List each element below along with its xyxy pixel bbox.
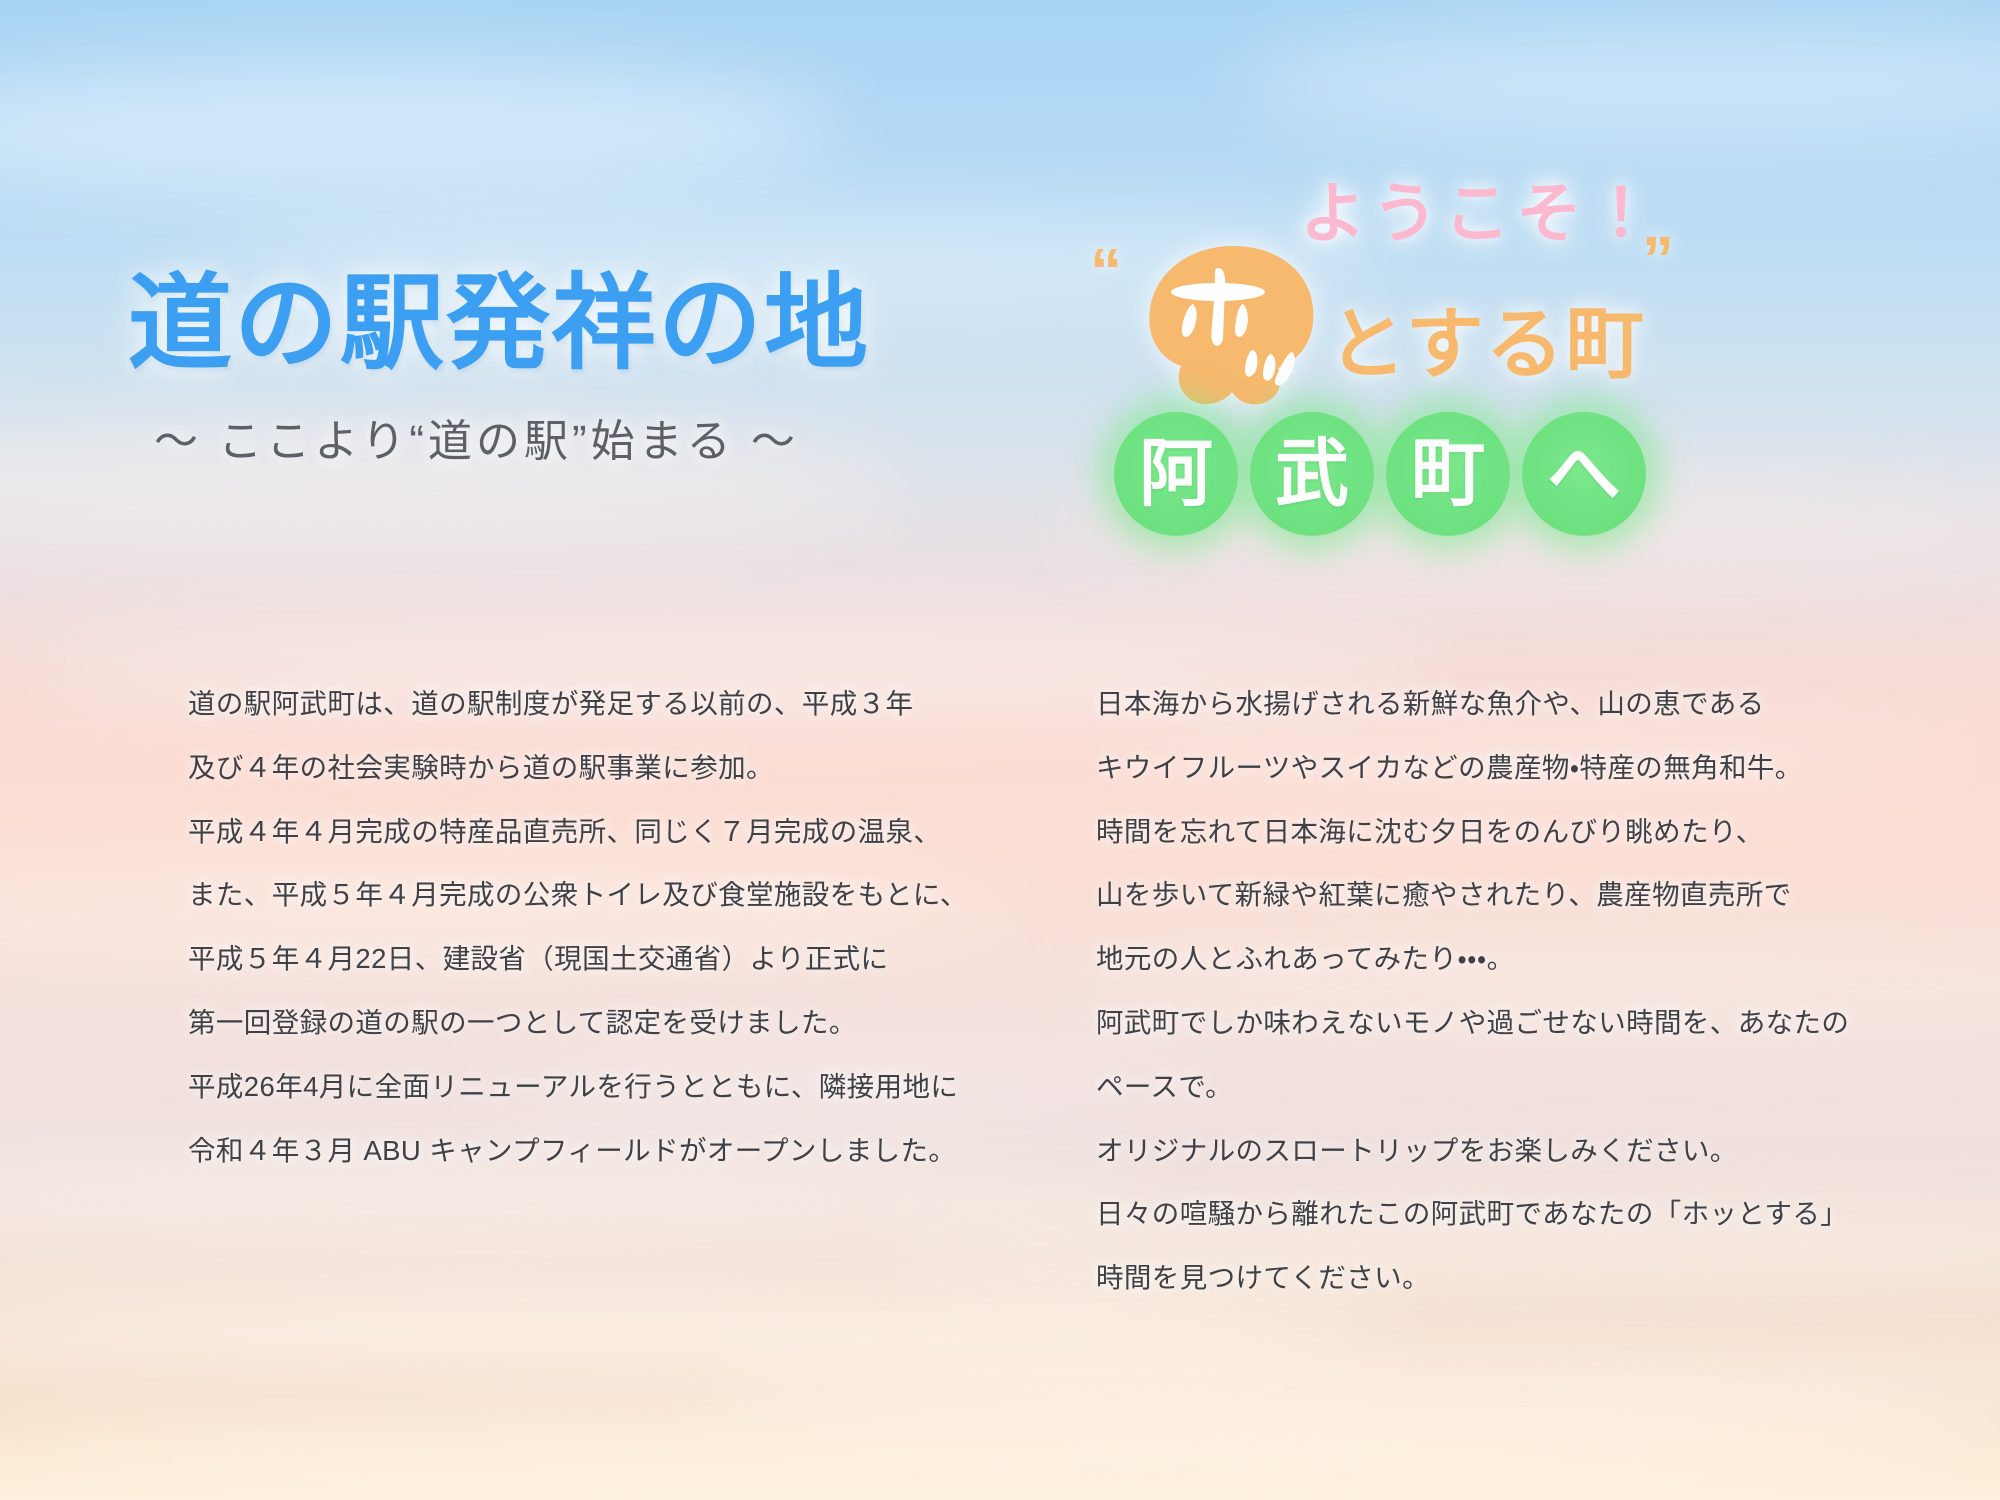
town-char-label: 武 <box>1275 437 1349 511</box>
body-line: 日々の喧騒から離れたこの阿武町であなたの「ホッとする」 <box>1096 1182 1856 1246</box>
body-line: 平成４年４月完成の特産品直売所、同じく７月完成の温泉、 <box>188 800 948 864</box>
page-title: 道の駅発祥の地 <box>128 270 1028 379</box>
body-line: 時間を見つけてください。 <box>1096 1246 1856 1310</box>
town-char-label: へ <box>1547 437 1621 511</box>
cloud-band-1 <box>0 60 840 195</box>
town-char-pill-3: 町 <box>1386 412 1510 536</box>
poster-canvas: 道の駅発祥の地 〜 ここより“道の駅”始まる 〜 ようこそ！ “ <box>0 0 2000 1500</box>
welcome-word: ようこそ！ <box>1300 160 1660 256</box>
body-line: 及び４年の社会実験時から道の駅事業に参加。 <box>188 736 948 800</box>
body-text-right: 日本海から水揚げされる新鮮な魚介や、山の恵である キウイフルーツやスイカなどの農… <box>1096 672 1856 1310</box>
body-line: オリジナルのスロートリップをお楽しみください。 <box>1096 1119 1856 1183</box>
body-line: 山を歩いて新緑や紅葉に癒やされたり、農産物直売所で <box>1096 863 1856 927</box>
body-line: 時間を忘れて日本海に沈む夕日をのんびり眺めたり、 <box>1096 800 1856 864</box>
cloud-band-13 <box>0 1418 2000 1493</box>
tosuru-machi-text: とする町 <box>1328 282 1646 394</box>
headline-block: 道の駅発祥の地 〜 ここより“道の駅”始まる 〜 <box>128 270 1028 469</box>
body-line: 令和４年３月 ABU キャンプフィールドがオープンしました。 <box>188 1119 948 1183</box>
body-line: 地元の人とふれあってみたり・・・。 <box>1096 927 1856 991</box>
quote-close-mark: ” <box>1642 222 1674 296</box>
town-char-pill-1: 阿 <box>1114 412 1238 536</box>
abu-town-row: 阿 武 町 へ <box>1114 412 1646 536</box>
quote-open-mark: “ <box>1090 234 1122 308</box>
cloud-band-2 <box>1240 23 2000 143</box>
body-line: また、平成５年４月完成の公衆トイレ及び食堂施設をもとに、 <box>188 863 948 927</box>
body-line: 第一回登録の道の駅の一つとして認定を受けました。 <box>188 991 948 1055</box>
welcome-logo-lockup: ようこそ！ “ とする町 ” <box>1090 160 1920 580</box>
hot-blob-icon <box>1138 242 1328 412</box>
body-line: 平成５年４月22日、建設省（現国土交通省）より正式に <box>188 927 948 991</box>
body-line: 阿武町でしか味わえないモノや過ごせない時間を、あなたの <box>1096 991 1856 1055</box>
town-char-label: 阿 <box>1139 437 1213 511</box>
body-text-left: 道の駅阿武町は、道の駅制度が発足する以前の、平成３年 及び４年の社会実験時から道… <box>188 672 948 1182</box>
body-line: ペースで。 <box>1096 1055 1856 1119</box>
town-char-pill-4: へ <box>1522 412 1646 536</box>
town-char-label: 町 <box>1411 437 1485 511</box>
body-line: 日本海から水揚げされる新鮮な魚介や、山の恵である <box>1096 672 1856 736</box>
page-subtitle: 〜 ここより“道の駅”始まる 〜 <box>154 405 1028 469</box>
body-line: キウイフルーツやスイカなどの農産物・特産の無角和牛。 <box>1096 736 1856 800</box>
cloud-band-12 <box>680 1350 2000 1425</box>
body-line: 道の駅阿武町は、道の駅制度が発足する以前の、平成３年 <box>188 672 948 736</box>
body-line: 平成26年4月に全面リニューアルを行うとともに、隣接用地に <box>188 1055 948 1119</box>
town-char-pill-2: 武 <box>1250 412 1374 536</box>
